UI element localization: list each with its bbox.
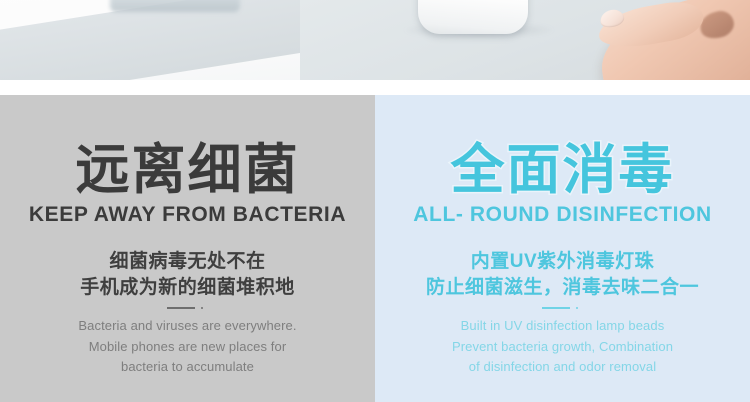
panel-left-headline-cn: 远离细菌 (76, 143, 300, 197)
panel-all-round-disinfection: 全面消毒 ALL- ROUND DISINFECTION 内置UV紫外消毒灯珠 … (375, 95, 750, 402)
panel-right-body-en-line-2: Prevent bacteria growth, Combination (452, 337, 673, 357)
panel-left-body-cn-line-2: 手机成为新的细菌堆积地 (80, 275, 295, 301)
panel-keep-away-from-bacteria: 远离细菌 KEEP AWAY FROM BACTERIA 细菌病毒无处不在 手机… (0, 95, 375, 402)
panel-left-body-en-line-1: Bacteria and viruses are everywhere. (78, 316, 296, 336)
divider-bar (542, 307, 570, 309)
product-feature-banner: 远离细菌 KEEP AWAY FROM BACTERIA 细菌病毒无处不在 手机… (0, 0, 750, 402)
panel-left-body-en-line-2: Mobile phones are new places for (78, 337, 296, 357)
divider-dot (576, 307, 578, 309)
feature-panels: 远离细菌 KEEP AWAY FROM BACTERIA 细菌病毒无处不在 手机… (0, 95, 750, 402)
white-separator-strip (0, 80, 750, 95)
panel-right-body-en-line-1: Built in UV disinfection lamp beads (452, 316, 673, 336)
panel-left-body-en-line-3: bacteria to accumulate (78, 357, 296, 377)
hero-photo-band (0, 0, 750, 80)
panel-left-body-cn: 细菌病毒无处不在 手机成为新的细菌堆积地 (80, 249, 295, 301)
panel-right-headline-cn: 全面消毒 (451, 143, 675, 197)
photo-sterilizer-device (418, 0, 528, 34)
panel-right-headline-en: ALL- ROUND DISINFECTION (413, 203, 711, 227)
panel-left-body-cn-line-1: 细菌病毒无处不在 (80, 249, 295, 275)
photo-glass-object (110, 0, 240, 12)
panel-right-divider (542, 303, 584, 313)
panel-right-body-cn-line-1: 内置UV紫外消毒灯珠 (426, 249, 699, 275)
panel-right-body-en: Built in UV disinfection lamp beads Prev… (452, 316, 673, 376)
panel-right-body-en-line-3: of disinfection and odor removal (452, 357, 673, 377)
panel-right-body-cn: 内置UV紫外消毒灯珠 防止细菌滋生，消毒去味二合一 (426, 249, 699, 301)
divider-bar (167, 307, 195, 309)
panel-right-body-cn-line-2: 防止细菌滋生，消毒去味二合一 (426, 275, 699, 301)
divider-dot (201, 307, 203, 309)
panel-left-divider (167, 303, 209, 313)
panel-left-body-en: Bacteria and viruses are everywhere. Mob… (78, 316, 296, 376)
panel-left-headline-en: KEEP AWAY FROM BACTERIA (29, 203, 346, 227)
